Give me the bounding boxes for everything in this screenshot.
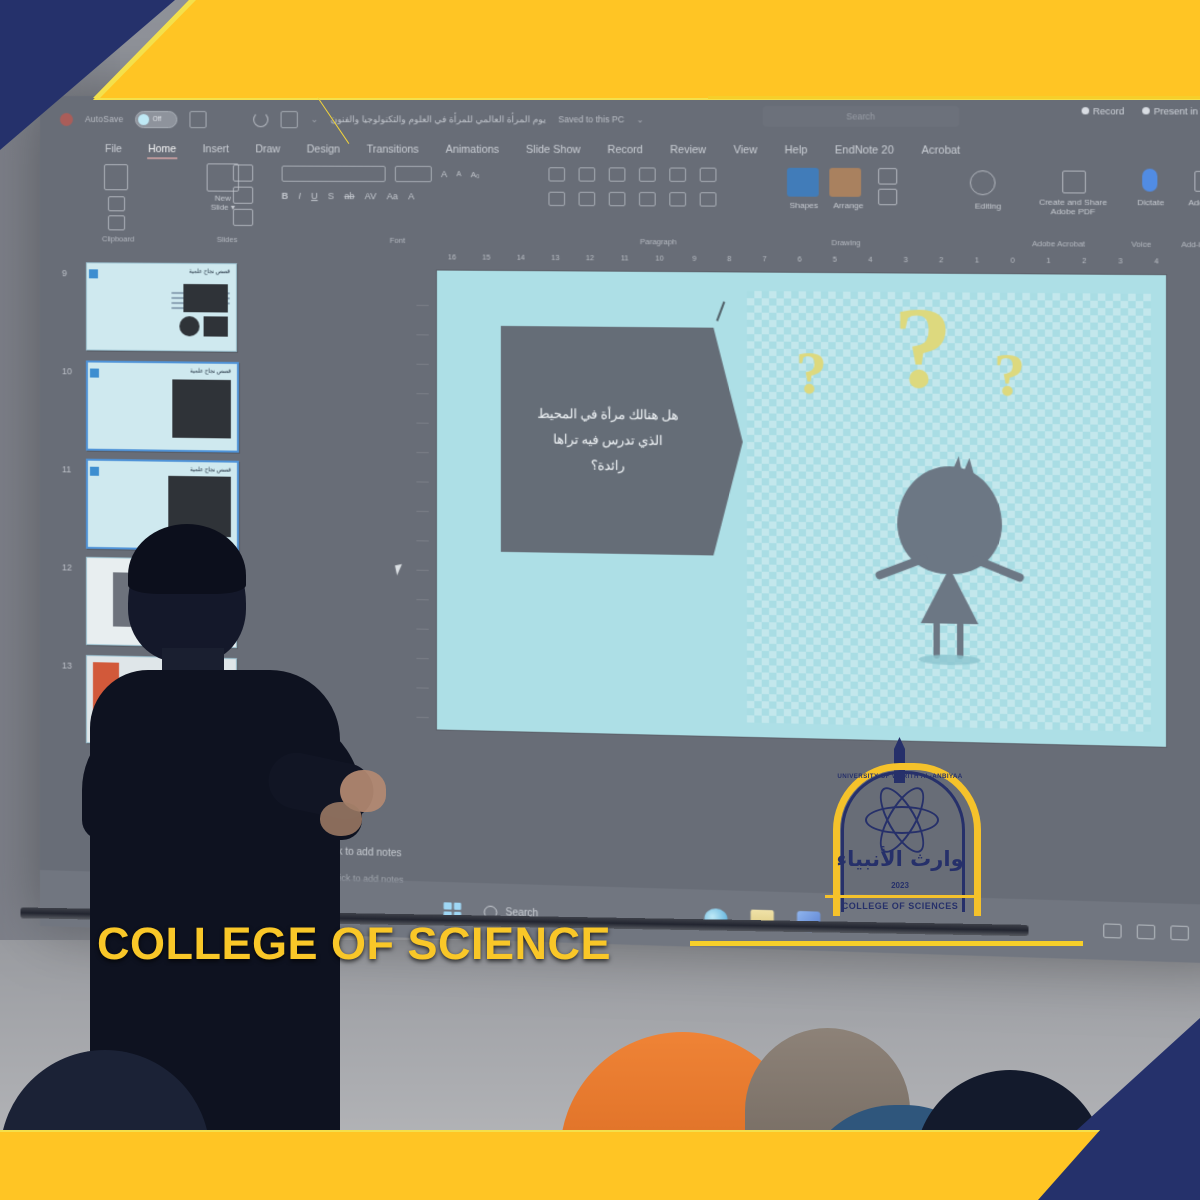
- slide-canvas[interactable]: هل هنالك مرأة في المحيط الذي تدرس فيه تر…: [437, 271, 1166, 747]
- university-logo: UNIVERSITY OF WARITH AL-ANBIYAA وارث الأ…: [815, 735, 985, 927]
- presenter-hair: [128, 524, 246, 594]
- increase-indent-icon[interactable]: [639, 167, 656, 181]
- thumb-number: 10: [62, 366, 72, 376]
- clipboard-group: [98, 160, 156, 234]
- decrease-indent-icon[interactable]: [609, 167, 626, 181]
- addins-group: Add-ins: [1175, 162, 1200, 240]
- ruler-tick: 8: [712, 255, 747, 262]
- question-mark-icon: ?: [893, 296, 953, 401]
- thumb-number: 13: [62, 660, 72, 670]
- network-icon[interactable]: [1103, 923, 1121, 938]
- save-status[interactable]: Saved to this PC: [558, 114, 624, 124]
- question-text: هل هنالك مرأة في المحيط الذي تدرس فيه تر…: [537, 401, 705, 480]
- chevron-down-icon[interactable]: ⌄: [637, 115, 644, 124]
- battery-icon[interactable]: [1170, 925, 1188, 940]
- font-family-select[interactable]: [282, 166, 386, 182]
- ruler-tick: 0: [995, 257, 1031, 264]
- ppt-titlebar: AutoSave Off ⌄ يوم المرأة العالمي للمرأة…: [40, 104, 1200, 135]
- ruler-tick: 2: [1066, 257, 1102, 264]
- system-tray: [1103, 923, 1200, 941]
- save-icon[interactable]: [190, 111, 207, 128]
- ribbon: Clipboard NewSlide ▾ Slides A: [40, 160, 1200, 255]
- decrease-font-icon[interactable]: A: [457, 171, 462, 178]
- group-label-paragraph: Paragraph: [640, 237, 677, 246]
- addins-icon[interactable]: [1194, 171, 1200, 192]
- redo-icon[interactable]: [281, 111, 298, 128]
- section-icon[interactable]: [233, 209, 253, 226]
- tab-transitions[interactable]: Transitions: [353, 143, 432, 155]
- volume-icon[interactable]: [1137, 924, 1155, 939]
- autosave-label: AutoSave: [85, 114, 124, 124]
- shapes-label[interactable]: Shapes: [783, 201, 825, 211]
- logo-baseline: [825, 895, 975, 898]
- strikethrough-icon[interactable]: ab: [344, 191, 354, 201]
- ruler-tick: 4: [853, 256, 888, 263]
- ruler-tick: 1: [1031, 257, 1067, 264]
- logo-college-name: COLLEGE OF SCIENCES: [821, 901, 979, 911]
- ruler-tick: 15: [469, 254, 503, 261]
- increase-font-icon[interactable]: A: [441, 169, 447, 179]
- slide-thumbnail-9[interactable]: قصص نجاح علمية: [86, 262, 237, 352]
- group-label-addins: Add-ins: [1181, 240, 1200, 250]
- group-label-adobe: Adobe Acrobat: [1032, 239, 1085, 249]
- underline-icon[interactable]: U: [311, 191, 318, 201]
- adobe-pdf-label[interactable]: Create and Share Adobe PDF: [1021, 197, 1125, 217]
- ribbon-tabs: File Home Insert Draw Design Transitions…: [40, 138, 1200, 163]
- thumb-image: [179, 316, 199, 336]
- logo-university-name: UNIVERSITY OF WARITH AL-ANBIYAA: [829, 773, 971, 853]
- reset-icon[interactable]: [233, 187, 253, 204]
- question-mark-icon: ?: [993, 347, 1025, 403]
- thumb-accent: [90, 467, 99, 476]
- text-direction-icon[interactable]: [700, 168, 717, 182]
- tab-design[interactable]: Design: [294, 143, 354, 155]
- columns-icon[interactable]: [669, 192, 686, 206]
- font-color-icon[interactable]: A: [408, 191, 414, 201]
- tab-acrobat[interactable]: Acrobat: [908, 144, 974, 157]
- ruler-tick: 14: [504, 254, 538, 261]
- ruler-tick: 12: [573, 255, 608, 262]
- numbering-icon[interactable]: [579, 167, 596, 181]
- logo-arabic-name: وارث الأنبياء: [831, 847, 969, 871]
- bold-icon[interactable]: B: [282, 191, 289, 201]
- logo-year: 2023: [831, 881, 969, 890]
- ruler-tick: 3: [1102, 258, 1138, 266]
- bottom-yellow-band: [0, 1130, 1100, 1200]
- top-yellow-band: [93, 0, 1200, 100]
- find-icon[interactable]: [970, 170, 996, 195]
- present-in-teams-button[interactable]: Present in Teams: [1142, 106, 1200, 116]
- slide-marker: [716, 301, 725, 321]
- more-commands-icon[interactable]: ⌄: [311, 114, 319, 125]
- adobe-pdf-icon[interactable]: [1062, 171, 1086, 194]
- thumb-number: 12: [62, 562, 72, 572]
- char-spacing-icon[interactable]: AV: [365, 191, 377, 201]
- thumb-image: [204, 316, 228, 336]
- group-label-voice: Voice: [1131, 240, 1151, 249]
- shapes-icon[interactable]: [787, 168, 819, 197]
- thumb-title: قصص نجاح علمية: [190, 467, 231, 474]
- italic-icon[interactable]: I: [298, 191, 301, 201]
- bullets-icon[interactable]: [548, 167, 565, 181]
- ruler-tick: 2: [923, 257, 959, 264]
- ruler-tick: 1: [959, 257, 995, 264]
- ruler-tick: 16: [435, 254, 469, 261]
- thumb-image: [183, 284, 227, 313]
- tab-file[interactable]: File: [92, 143, 135, 155]
- mouse-cursor: [395, 563, 408, 575]
- tab-record[interactable]: Record: [594, 144, 656, 156]
- arrange-label[interactable]: Arrange: [825, 201, 872, 211]
- record-zone: Record Present in Teams: [1081, 106, 1200, 116]
- poster-root: AutoSave Off ⌄ يوم المرأة العالمي للمرأة…: [0, 0, 1200, 1200]
- thumb-title: قصص نجاح علمية: [189, 269, 230, 275]
- search-input[interactable]: Search: [763, 106, 959, 127]
- ruler-tick: 7: [747, 256, 782, 263]
- align-center-icon[interactable]: [579, 192, 596, 206]
- autosave-state: Off: [153, 116, 162, 123]
- voice-group: Dictate: [1121, 162, 1182, 239]
- ruler-tick: 9: [677, 255, 712, 262]
- group-label-drawing: Drawing: [831, 238, 860, 247]
- question-shape[interactable]: هل هنالك مرأة في المحيط الذي تدرس فيه تر…: [501, 326, 743, 556]
- question-image-panel[interactable]: ? ? ?: [747, 291, 1151, 732]
- top-right-yellow-line: [708, 96, 1200, 99]
- editing-group: Editing: [955, 162, 1021, 239]
- adobe-group: Create and Share Adobe PDF: [1021, 162, 1125, 239]
- horizontal-ruler: 16 15 14 13 12 11 10 9 8 7 6 5 4 3 2 1 0…: [435, 250, 1175, 269]
- document-title: يوم المرأة العالمي للمرأة في العلوم والت…: [330, 114, 545, 125]
- thumb-image: [172, 379, 231, 438]
- paste-icon[interactable]: [104, 164, 128, 190]
- slides-extra-group: [233, 160, 267, 235]
- ruler-tick: 11: [607, 255, 642, 262]
- question-mark-icon: ?: [795, 345, 827, 401]
- tab-endnote[interactable]: EndNote 20: [821, 144, 908, 157]
- thumb-accent: [89, 269, 98, 278]
- shadow-icon[interactable]: S: [328, 191, 334, 201]
- microphone-icon[interactable]: [1142, 169, 1157, 192]
- clear-format-icon[interactable]: A₀: [471, 170, 480, 179]
- change-case-icon[interactable]: Aa: [387, 191, 398, 201]
- ruler-tick: 3: [888, 256, 924, 263]
- ruler-tick: 10: [642, 255, 677, 262]
- dictate-label[interactable]: Dictate: [1121, 198, 1182, 208]
- record-button[interactable]: Record: [1081, 106, 1124, 116]
- quick-styles-icon[interactable]: [878, 168, 897, 185]
- tab-help[interactable]: Help: [771, 144, 821, 156]
- font-size-select[interactable]: [395, 166, 432, 182]
- smartart-icon[interactable]: [700, 192, 717, 206]
- vertical-ruler: [416, 276, 428, 723]
- page-title: COLLEGE OF SCIENCE: [97, 918, 611, 970]
- tab-review[interactable]: Review: [656, 144, 719, 156]
- question-line-2: الذي تدرس فيه تراها: [537, 427, 678, 454]
- thumb-accent: [90, 369, 99, 378]
- presenter-hand: [320, 802, 362, 836]
- font-group: A A A₀ B I U S ab AV Aa A: [282, 161, 539, 237]
- arrange-icon[interactable]: [829, 168, 861, 197]
- ruler-tick: 4: [1138, 258, 1174, 266]
- confused-person-icon: [882, 455, 1017, 664]
- line-spacing-icon[interactable]: [669, 168, 686, 182]
- paragraph-group: [548, 161, 757, 238]
- question-line-1: هل هنالك مرأة في المحيط: [537, 401, 678, 428]
- tab-slide-show[interactable]: Slide Show: [513, 144, 594, 156]
- tab-animations[interactable]: Animations: [432, 144, 512, 156]
- thumb-number: 11: [62, 464, 71, 474]
- tab-insert[interactable]: Insert: [189, 143, 242, 155]
- editing-label[interactable]: Editing: [955, 201, 1021, 211]
- thumb-number: 9: [62, 268, 67, 278]
- autosave-toggle[interactable]: Off: [136, 111, 178, 128]
- drawing-group: Shapes Arrange: [779, 162, 906, 239]
- format-painter-icon[interactable]: [108, 215, 125, 230]
- question-line-3: رائدة؟: [537, 452, 678, 479]
- addins-label[interactable]: Add-ins: [1175, 198, 1200, 208]
- ruler-tick: 6: [782, 256, 817, 263]
- app-icon: [60, 113, 73, 126]
- tab-draw[interactable]: Draw: [242, 143, 293, 155]
- ruler-tick: 13: [538, 254, 573, 261]
- layout-icon[interactable]: [233, 164, 253, 181]
- align-right-icon[interactable]: [609, 192, 626, 206]
- shape-fill-icon[interactable]: [878, 189, 897, 206]
- align-left-icon[interactable]: [548, 192, 565, 206]
- justify-icon[interactable]: [639, 192, 656, 206]
- group-label-slides: Slides: [217, 235, 238, 244]
- group-label-clipboard: Clipboard: [102, 234, 134, 243]
- group-label-font: Font: [390, 236, 405, 245]
- copy-icon[interactable]: [108, 196, 125, 211]
- toggle-knob: [139, 114, 150, 125]
- tab-view[interactable]: View: [720, 144, 771, 156]
- ruler-tick: 5: [817, 256, 852, 263]
- thumb-title: قصص نجاح علمية: [190, 369, 231, 375]
- slide-thumbnail-10[interactable]: قصص نجاح علمية: [86, 360, 239, 452]
- tab-home[interactable]: Home: [135, 143, 189, 155]
- undo-icon[interactable]: [254, 112, 269, 127]
- title-underline: [690, 941, 1083, 946]
